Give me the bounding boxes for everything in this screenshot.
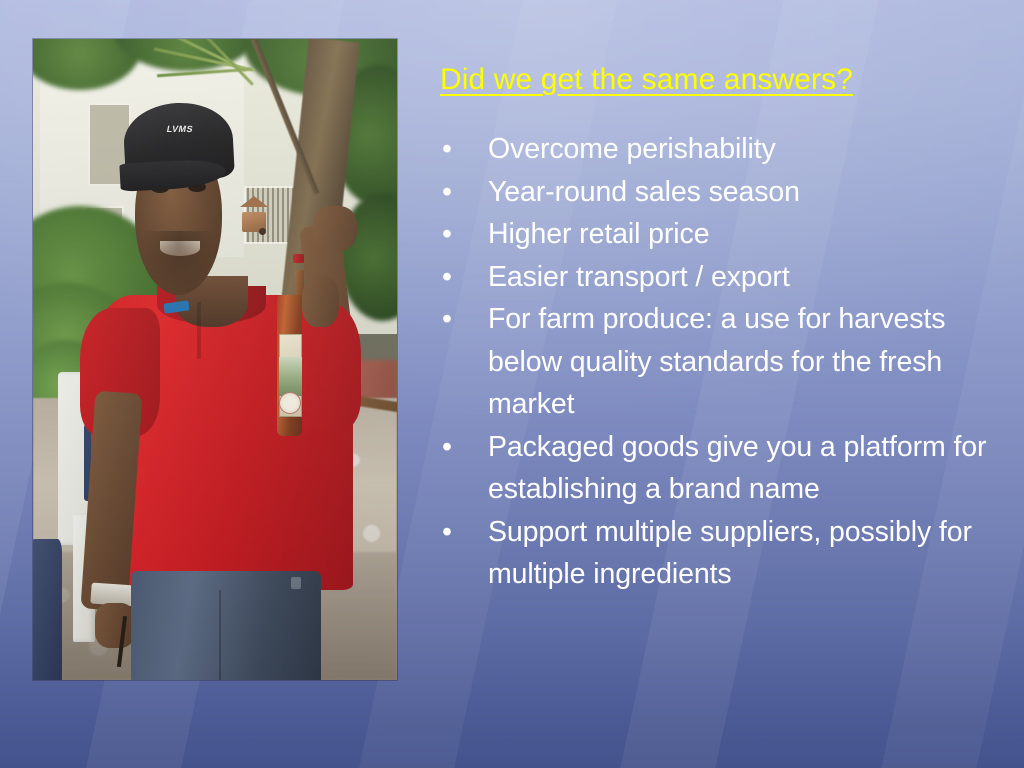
- bullet-text: Packaged goods give you a platform for e…: [488, 431, 986, 506]
- photo-subject-raised-hand: [313, 206, 357, 251]
- bullet-item: • For farm produce: a use for harvests b…: [424, 298, 1000, 426]
- bullet-item: • Overcome perishability: [424, 128, 1000, 171]
- bullet-marker-icon: •: [442, 511, 452, 554]
- photo-subject-left-hand: [95, 603, 135, 648]
- bullet-text: Overcome perishability: [488, 133, 776, 165]
- bullet-text: For farm produce: a use for harvests bel…: [488, 303, 945, 420]
- bullet-item: • Year-round sales season: [424, 171, 1000, 214]
- photo-subject-cap-logo: LVMS: [139, 124, 221, 134]
- bullet-marker-icon: •: [442, 298, 452, 341]
- bullet-text: Support multiple suppliers, possibly for…: [488, 516, 972, 591]
- photo-subject-jeans-seam: [219, 590, 221, 680]
- slide-canvas: LVMS Did we get the same answers? • Over…: [0, 0, 1024, 768]
- photo-bottle-label-art: [279, 357, 302, 395]
- bullet-text: Year-round sales season: [488, 176, 800, 208]
- photo-birdhouse-roof: [240, 196, 268, 207]
- bullet-marker-icon: •: [442, 128, 452, 171]
- bullet-item: • Support multiple suppliers, possibly f…: [424, 511, 1000, 596]
- photo-subject-belt-loop: [291, 577, 301, 589]
- bullet-item: • Packaged goods give you a platform for…: [424, 426, 1000, 511]
- photo-bottle-cap: [293, 254, 304, 263]
- bullet-item: • Higher retail price: [424, 213, 1000, 256]
- photo-subject-placket: [197, 302, 201, 360]
- bullet-marker-icon: •: [442, 256, 452, 299]
- photo-birdhouse-hole: [259, 228, 266, 235]
- bullet-marker-icon: •: [442, 213, 452, 256]
- bullet-item: • Easier transport / export: [424, 256, 1000, 299]
- bullet-text: Easier transport / export: [488, 261, 790, 293]
- photo-subject-right-hand: [302, 276, 338, 327]
- bullet-text: Higher retail price: [488, 218, 709, 250]
- slide-photo: LVMS: [33, 39, 397, 680]
- bullet-marker-icon: •: [442, 426, 452, 469]
- bullet-marker-icon: •: [442, 171, 452, 214]
- photo-bottle-label: [279, 334, 302, 417]
- photo-bystander-left: [33, 539, 62, 680]
- photo-subject-beard: [142, 231, 215, 295]
- slide-title: Did we get the same answers?: [424, 62, 1000, 98]
- slide-text-column: Did we get the same answers? • Overcome …: [424, 62, 1000, 596]
- bullet-list: • Overcome perishability • Year-round sa…: [424, 128, 1000, 596]
- photo-bottle-label-seal: [279, 392, 301, 414]
